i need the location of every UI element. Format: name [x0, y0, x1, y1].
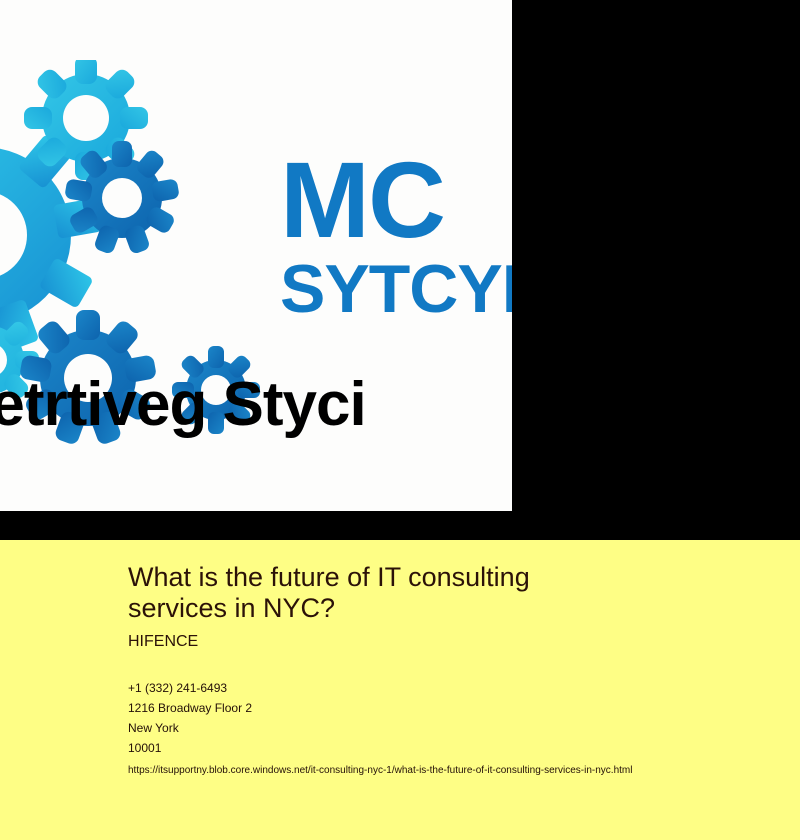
logo-wordmark: MC SYTCYI — [280, 150, 512, 324]
brand-name: HIFENCE — [128, 632, 780, 652]
contact-block: +1 (332) 241-6493 1216 Broadway Floor 2 … — [128, 678, 780, 758]
source-url[interactable]: https://itsupportny.blob.core.windows.ne… — [128, 763, 780, 779]
logo-wordmark-main: MC — [280, 150, 512, 250]
contact-phone: +1 (332) 241-6493 — [128, 678, 780, 698]
logo-tagline: Setrtiveg Styci — [0, 372, 366, 438]
logo-image: MC SYTCYI Setrtiveg Styci — [0, 0, 512, 511]
media-band: MC SYTCYI Setrtiveg Styci — [0, 0, 800, 540]
content-inner: What is the future of IT consulting serv… — [128, 562, 780, 779]
page-title: What is the future of IT consulting serv… — [128, 562, 628, 624]
contact-zip: 10001 — [128, 738, 780, 758]
logo-canvas: MC SYTCYI Setrtiveg Styci — [0, 0, 512, 511]
content-card: What is the future of IT consulting serv… — [0, 540, 800, 840]
logo-wordmark-sub: SYTCYI — [280, 254, 512, 324]
contact-city: New York — [128, 718, 780, 738]
contact-street: 1216 Broadway Floor 2 — [128, 698, 780, 718]
